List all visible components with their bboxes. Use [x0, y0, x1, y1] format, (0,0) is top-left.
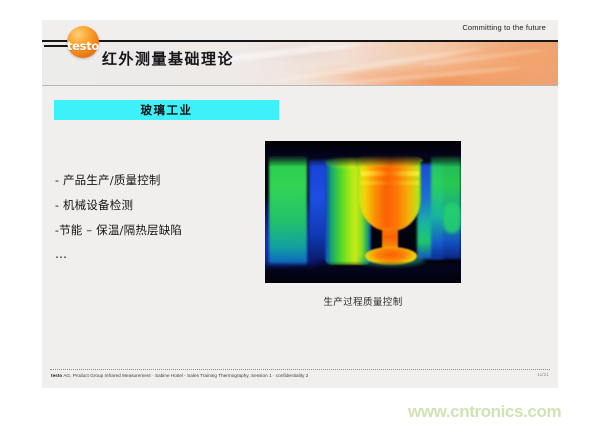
bullet-list: - 产品生产/质量控制 - 机械设备检测 -节能 – 保温/隔热层缺陷 …	[55, 168, 265, 265]
site-watermark: www.cntronics.com	[408, 402, 561, 422]
bullet-item-ellipsis: …	[55, 243, 265, 265]
company-tagline: Committing to the future	[462, 23, 546, 32]
testo-logo: testo	[59, 26, 107, 66]
thermal-infrared-image	[265, 141, 461, 283]
thermal-image-container	[265, 141, 461, 283]
thermal-bottom-shadow	[265, 261, 461, 283]
thermal-top-shadow	[265, 141, 461, 167]
image-caption: 生产过程质量控制	[265, 294, 461, 308]
thermal-goblet-band	[361, 181, 419, 185]
subtitle-label: 玻璃工业	[141, 102, 193, 118]
bullet-item: -节能 – 保温/隔热层缺陷	[55, 218, 265, 243]
thermal-goblet-bowl	[359, 159, 421, 231]
thermal-goblet-band	[361, 171, 419, 176]
footer-page-number: 11/21	[537, 372, 549, 377]
thermal-glass-left	[269, 153, 307, 265]
footer-detail: AG, Product Group Infrared Measurement ·…	[63, 373, 308, 378]
slide-header: Committing to the future 红外测量基础理论 testo	[42, 20, 558, 88]
bullet-item: - 机械设备检测	[55, 193, 265, 218]
presentation-slide: Committing to the future 红外测量基础理论 testo …	[42, 20, 558, 388]
slide-title: 红外测量基础理论	[102, 48, 234, 69]
bullet-item: - 产品生产/质量控制	[55, 168, 265, 193]
thermal-hotspot-right	[443, 203, 461, 233]
subtitle-banner: 玻璃工业	[54, 100, 279, 120]
tagline-strip: Committing to the future	[42, 20, 558, 40]
title-band-bottom-rule	[42, 85, 558, 86]
footer-text: testo AG, Product Group Infrared Measure…	[51, 373, 308, 378]
footer-divider-rule	[50, 369, 550, 370]
footer-brand: testo	[51, 373, 62, 378]
logo-wordmark: testo	[59, 39, 107, 53]
